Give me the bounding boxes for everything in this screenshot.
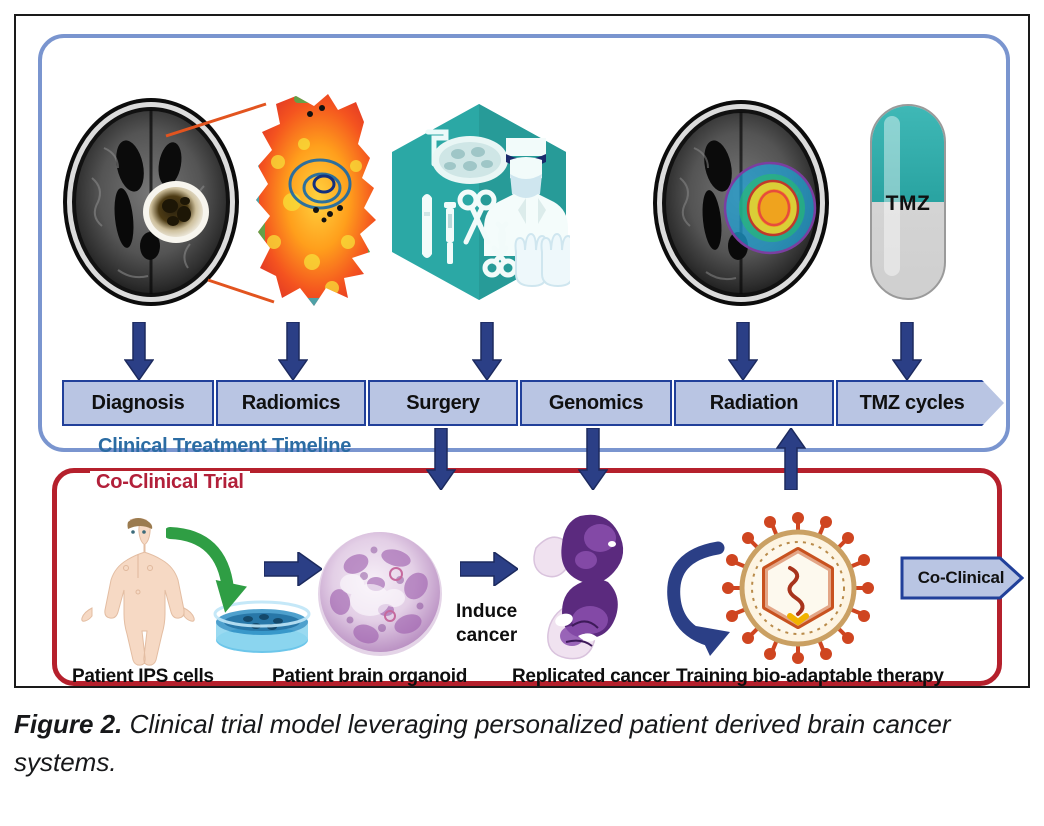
figure-caption-label: Figure 2. xyxy=(14,709,122,739)
figure-caption: Figure 2. Clinical trial model leveragin… xyxy=(14,706,1024,781)
arrow-up-therapy-to-radiation xyxy=(776,428,806,490)
step-label-patient-brain-organoid: Patient brain organoid xyxy=(272,666,467,688)
step-label-replicated-cancer: Replicated cancer xyxy=(512,666,670,688)
arrow-down-radiation xyxy=(728,322,758,380)
timeline-stage-radiomics[interactable]: Radiomics xyxy=(216,380,366,426)
training-loop-arrow xyxy=(656,534,742,656)
clinical-timeline: Diagnosis Radiomics Surgery Genomics Rad… xyxy=(62,380,1004,426)
timeline-stage-genomics[interactable]: Genomics xyxy=(520,380,672,426)
replicated-cancer-icon xyxy=(516,508,656,664)
arrow-down-genomics-to-cancer xyxy=(578,428,608,490)
co-clinical-output-label[interactable]: Co-Clinical xyxy=(900,556,1022,600)
surgery-hexagon-icon xyxy=(388,102,570,302)
radiomics-heatmap-icon xyxy=(252,92,384,312)
brain-mri-radiation-icon xyxy=(648,96,834,310)
arrow-down-surgery xyxy=(472,322,502,380)
timeline-stage-radiation[interactable]: Radiation xyxy=(674,380,834,426)
induce-cancer-label: Induce cancer xyxy=(456,600,517,648)
tmz-capsule-icon: TMZ xyxy=(870,104,946,300)
capsule-top-half xyxy=(872,106,944,202)
arrow-down-diagnosis xyxy=(124,322,154,380)
capsule-label: TMZ xyxy=(872,192,944,216)
co-clinical-trial-label: Co-Clinical Trial xyxy=(90,471,250,494)
arrow-down-tmz xyxy=(892,322,922,380)
induce-line-2: cancer xyxy=(456,624,517,648)
green-curved-arrow xyxy=(166,521,258,616)
timeline-stage-diagnosis[interactable]: Diagnosis xyxy=(62,380,214,426)
arrow-down-radiomics xyxy=(278,322,308,380)
induce-line-1: Induce xyxy=(456,600,517,624)
clinical-timeline-label: Clinical Treatment Timeline xyxy=(98,435,351,458)
arrow-down-surgery-to-organoid xyxy=(426,428,456,490)
figure-frame: Clinical Treatment Timeline xyxy=(14,14,1030,688)
step-label-patient-ips-cells: Patient IPS cells xyxy=(72,666,214,688)
timeline-stage-surgery[interactable]: Surgery xyxy=(368,380,518,426)
patient-brain-organoid-icon xyxy=(312,524,448,660)
figure-caption-text: Clinical trial model leveraging personal… xyxy=(14,709,951,777)
arrow-right-to-organoid xyxy=(264,552,322,586)
step-label-training-therapy: Training bio-adaptable therapy xyxy=(676,666,944,688)
timeline-stage-tmz-cycles[interactable]: TMZ cycles xyxy=(836,380,1004,426)
arrow-right-to-replicated-cancer xyxy=(460,552,518,586)
